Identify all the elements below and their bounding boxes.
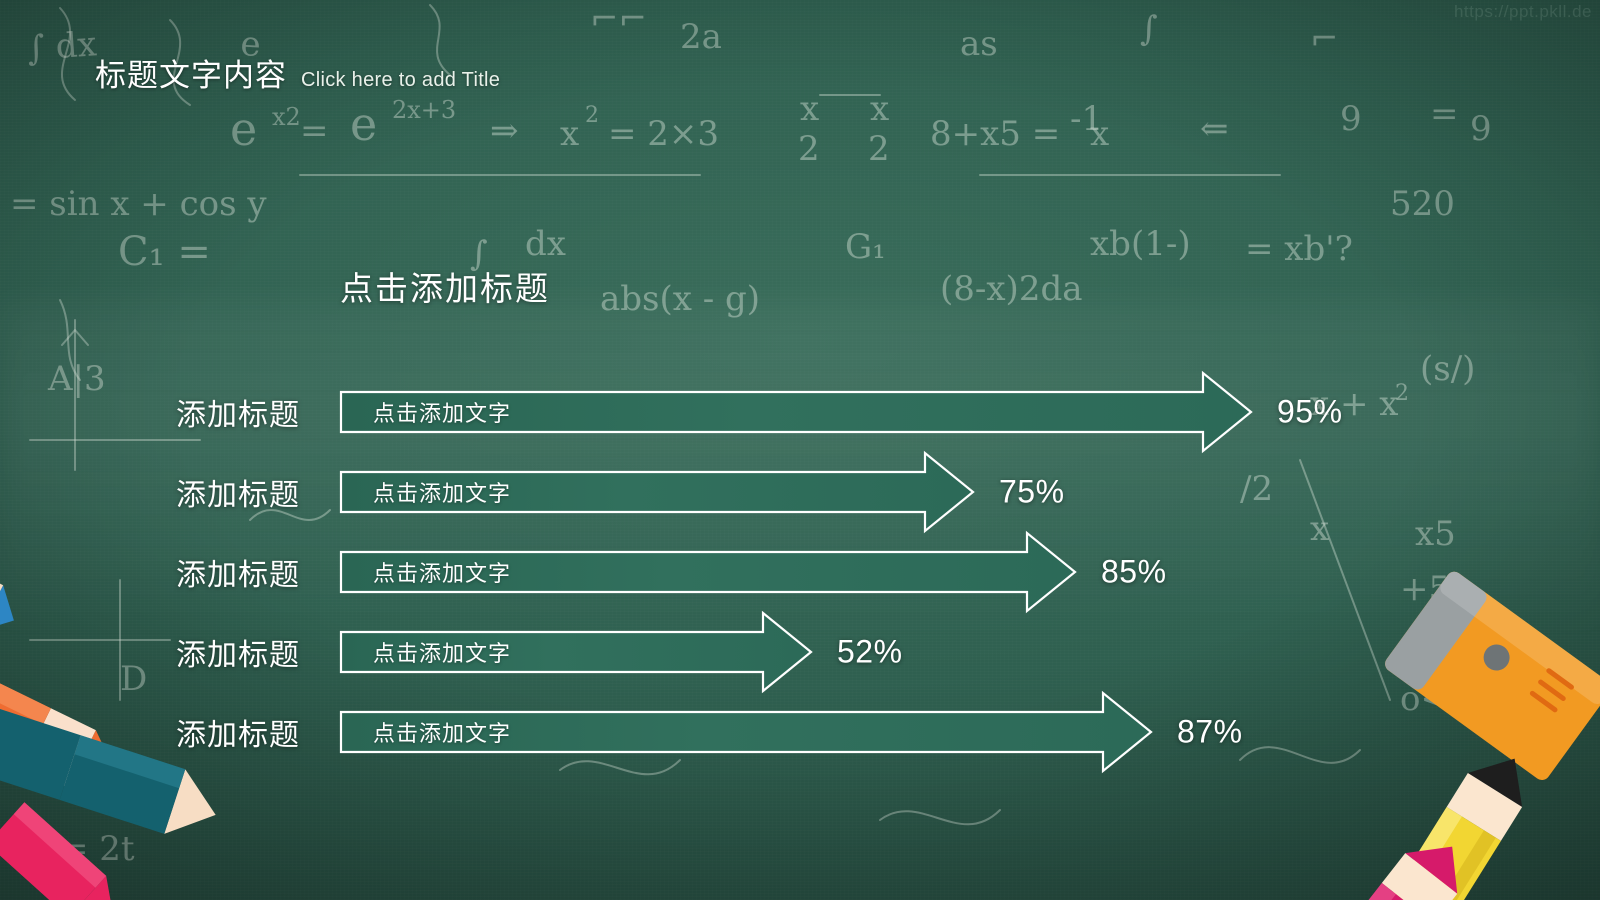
bar-text-2[interactable]: 点击添加文字 (373, 476, 511, 508)
svg-text:2: 2 (585, 103, 599, 128)
arrow-bar-chart: 添加标题点击添加文字95%添加标题点击添加文字75%添加标题点击添加文字85%添… (0, 330, 1600, 770)
svg-text:⌐⌐: ⌐⌐ (590, 0, 647, 39)
svg-text:e: e (350, 97, 377, 151)
row-label-1[interactable]: 添加标题 (176, 390, 300, 434)
svg-text:x: x (560, 114, 579, 154)
svg-text:2x+3: 2x+3 (392, 96, 456, 124)
svg-text:8+x5 =: 8+x5 = (930, 114, 1060, 154)
page-title-cn: 标题文字内容 (95, 50, 287, 95)
svg-text:= 2t: = 2t (60, 829, 135, 869)
value-label-2: 75% (999, 474, 1065, 511)
svg-text:2: 2 (798, 129, 820, 169)
svg-text:∫ dx: ∫ dx (26, 24, 98, 69)
svg-text:abs(x - g): abs(x - g) (600, 279, 760, 319)
svg-text:C₁ =: C₁ = (118, 229, 211, 275)
svg-text:e: e (230, 102, 257, 156)
slide-canvas: ∫ dx e ⌐⌐ 2a as ∫ ⌐ e x2 = e 2x+3 ⇒ x 2 … (0, 0, 1600, 900)
row-label-2[interactable]: 添加标题 (176, 470, 300, 514)
svg-text:2a: 2a (680, 17, 722, 57)
svg-text:G₁: G₁ (845, 227, 886, 267)
svg-text:⌐: ⌐ (1310, 19, 1339, 59)
svg-text:x: x (870, 89, 889, 129)
svg-text:= 2×3: = 2×3 (608, 114, 719, 154)
page-title-en[interactable]: Click here to add Title (301, 69, 500, 92)
svg-text:9: 9 (1340, 99, 1362, 139)
svg-text:2: 2 (868, 129, 890, 169)
svg-text:(8-x)2da: (8-x)2da (940, 269, 1083, 309)
bar-text-5[interactable]: 点击添加文字 (373, 716, 511, 748)
svg-text:-1: -1 (1070, 99, 1103, 139)
svg-text:as: as (960, 24, 998, 64)
svg-text:xb(1-): xb(1-) (1090, 224, 1191, 264)
bar-text-3[interactable]: 点击添加文字 (373, 556, 511, 588)
section-subtitle[interactable]: 点击添加标题 (340, 262, 550, 310)
chart-row: 添加标题点击添加文字95% (0, 372, 1600, 452)
chart-row: 添加标题点击添加文字75% (0, 452, 1600, 532)
chart-row: 添加标题点击添加文字52% (0, 612, 1600, 692)
chart-row: 添加标题点击添加文字85% (0, 532, 1600, 612)
svg-text:9: 9 (1470, 109, 1492, 149)
svg-text:x2: x2 (272, 103, 301, 131)
svg-text:=: = (1430, 94, 1459, 134)
svg-text:= sin x + cos y: = sin x + cos y (10, 184, 267, 224)
row-label-5[interactable]: 添加标题 (176, 710, 300, 754)
svg-text:x: x (1090, 114, 1109, 154)
slide-header: 标题文字内容 Click here to add Title (95, 50, 500, 95)
svg-text:dx: dx (525, 224, 566, 264)
chart-row: 添加标题点击添加文字87% (0, 692, 1600, 772)
watermark-text: https://ppt.pkll.de (1454, 2, 1592, 22)
svg-text:∫: ∫ (1140, 9, 1158, 49)
value-label-3: 85% (1101, 554, 1167, 591)
row-label-3[interactable]: 添加标题 (176, 550, 300, 594)
svg-text:520: 520 (1390, 184, 1455, 224)
svg-text:⇒: ⇒ (490, 111, 519, 151)
bar-text-4[interactable]: 点击添加文字 (373, 636, 511, 668)
row-label-4[interactable]: 添加标题 (176, 630, 300, 674)
svg-text:=: = (300, 111, 329, 151)
value-label-5: 87% (1177, 714, 1243, 751)
svg-text:x: x (800, 89, 819, 129)
value-label-4: 52% (837, 634, 903, 671)
svg-text:⇐: ⇐ (1200, 109, 1229, 149)
bar-text-1[interactable]: 点击添加文字 (373, 396, 511, 428)
value-label-1: 95% (1277, 394, 1343, 431)
svg-text:= xb'?: = xb'? (1245, 229, 1353, 269)
